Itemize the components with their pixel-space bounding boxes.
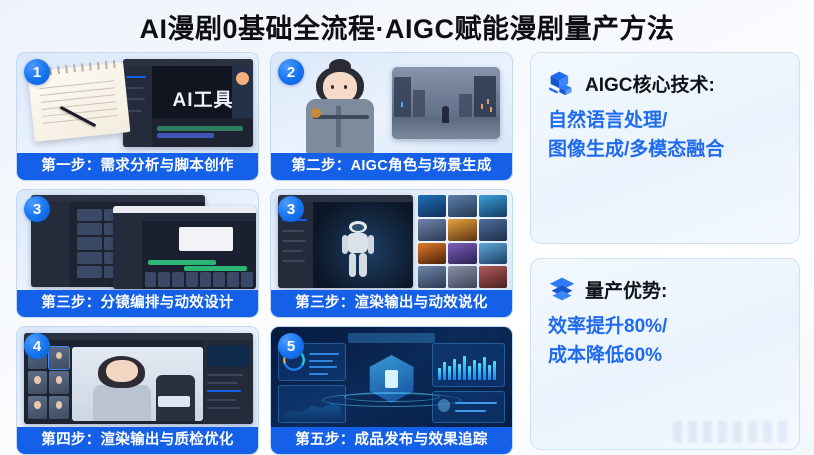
step-label-3: 第三步：分镜编排与动效设计 <box>17 290 258 317</box>
screen-headline-text: AI工具 <box>172 85 233 112</box>
artwork-notebook-and-editor: AI工具 <box>17 53 258 153</box>
step-label-6: 第五步：成品发布与效果追踪 <box>271 427 512 454</box>
panel-header: 量产优势: <box>548 275 785 303</box>
list-widget <box>432 391 504 423</box>
window-body: AI工具 <box>123 66 253 147</box>
step-card-5-media: 4 <box>17 327 258 427</box>
step-label-4: 第三步：渲染输出与动效说化 <box>271 290 512 317</box>
character-illustration <box>300 59 382 153</box>
render-gallery-grid <box>418 195 507 288</box>
panel-line-1: 自然语言处理/ <box>548 106 785 135</box>
step-card-6[interactable]: 5 <box>270 326 513 455</box>
artwork-data-dashboard <box>271 327 512 427</box>
dashboard-panel <box>271 327 512 427</box>
dashboard-title-bar <box>348 333 435 343</box>
artwork-portrait-preview-editor <box>17 327 258 427</box>
watermark <box>673 421 791 443</box>
step-card-2[interactable]: 2 <box>270 52 513 181</box>
page-title: AI漫剧0基础全流程·AIGC赋能漫剧量产方法 <box>0 0 814 52</box>
astronaut-illustration <box>340 221 375 278</box>
artwork-character-and-scene <box>271 53 512 153</box>
panel-line-1: 效率提升80%/ <box>548 312 785 341</box>
step-badge-1: 1 <box>24 59 50 85</box>
step-card-3-media: 3 <box>17 190 258 290</box>
step-cards-grid: 1 AI工具 <box>16 52 522 455</box>
window-titlebar <box>31 195 205 202</box>
step-badge-5: 4 <box>24 333 50 359</box>
step-card-4-media: 3 <box>271 190 512 290</box>
info-panel-advantages: 量产优势: 效率提升80%/ 成本降低60% <box>530 258 800 450</box>
panel-line-2: 成本降低60% <box>548 341 785 370</box>
window-body <box>113 213 255 289</box>
window-titlebar <box>123 59 253 66</box>
step-card-1-media: 1 AI工具 <box>17 53 258 153</box>
step-label-5: 第四步：渲染输出与质检优化 <box>17 427 258 454</box>
qc-editor-window <box>24 333 253 424</box>
bar-chart-widget <box>432 343 504 387</box>
step-badge-2: 2 <box>278 59 304 85</box>
scene-illustration <box>392 67 500 139</box>
step-card-4[interactable]: 3 <box>270 189 513 318</box>
step-label-2: 第二步：AIGC角色与场景生成 <box>271 153 512 180</box>
timeline-window-front <box>113 206 255 289</box>
artwork-storyboard-editors <box>17 190 258 290</box>
window-body <box>24 340 253 424</box>
panel-header: AIGC核心技术: <box>548 69 785 97</box>
info-panel-core-tech: AIGC核心技术: 自然语言处理/ 图像生成/多模态融合 <box>530 52 800 244</box>
step-card-5[interactable]: 4 <box>16 326 259 455</box>
main-layout: 1 AI工具 <box>0 52 814 455</box>
step-badge-6: 5 <box>278 333 304 359</box>
panel-title-core-tech: AIGC核心技术: <box>585 70 715 97</box>
step-label-1: 第一步：需求分析与脚本创作 <box>17 153 258 180</box>
layers-icon <box>548 275 576 303</box>
step-card-6-media: 5 <box>271 327 512 427</box>
window-titlebar <box>24 333 253 340</box>
info-panels-column: AIGC核心技术: 自然语言处理/ 图像生成/多模态融合 量产优势: 效率提升8… <box>522 52 800 455</box>
panel-title-advantages: 量产优势: <box>585 276 667 303</box>
cube-stack-icon <box>548 69 576 97</box>
editor-window: AI工具 <box>123 59 253 147</box>
panel-line-2: 图像生成/多模态融合 <box>548 135 785 164</box>
window-titlebar <box>113 206 255 213</box>
step-badge-4: 3 <box>278 196 304 222</box>
step-card-2-media: 2 <box>271 53 512 153</box>
hologram-ring-inner <box>343 392 439 402</box>
step-card-1[interactable]: 1 AI工具 <box>16 52 259 181</box>
step-badge-3: 3 <box>24 196 50 222</box>
artwork-astronaut-and-gallery <box>271 190 512 290</box>
step-card-3[interactable]: 3 <box>16 189 259 318</box>
preview-frame <box>72 347 203 421</box>
